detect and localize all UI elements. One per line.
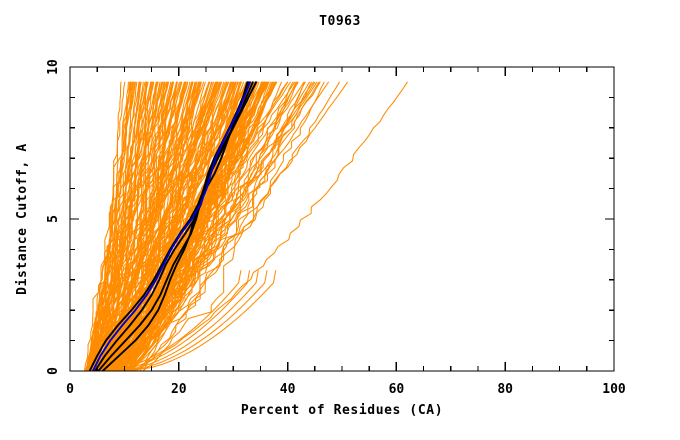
distance-cutoff-plot: 0204060801000510 Percent of Residues (CA… xyxy=(0,0,680,440)
y-tick-label: 5 xyxy=(46,215,61,223)
x-tick-label: 0 xyxy=(66,382,74,397)
y-axis-title: Distance Cutoff, A xyxy=(15,143,30,295)
x-tick-label: 20 xyxy=(171,382,187,397)
x-tick-label: 60 xyxy=(389,382,405,397)
x-tick-label: 40 xyxy=(280,382,296,397)
chart-root: T0963 0204060801000510 Percent of Residu… xyxy=(0,0,680,440)
x-axis-title: Percent of Residues (CA) xyxy=(241,403,443,418)
x-tick-label: 80 xyxy=(497,382,513,397)
y-tick-label: 10 xyxy=(46,59,61,75)
curves-layer xyxy=(85,82,408,371)
x-tick-label: 100 xyxy=(602,382,626,397)
y-tick-label: 0 xyxy=(46,367,61,375)
